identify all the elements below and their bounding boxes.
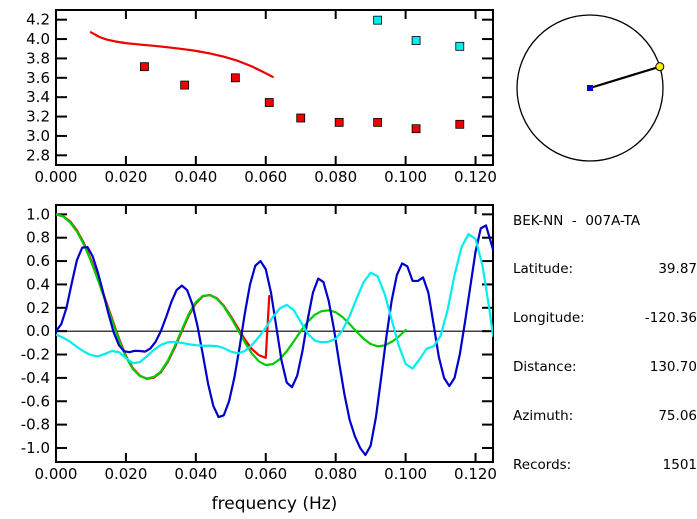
info-value-distance: 130.70 <box>650 359 697 375</box>
data-point-marker <box>374 118 382 126</box>
info-row-records: Records:1501 <box>513 457 697 473</box>
x-tick-label: 0.100 <box>384 465 427 483</box>
info-row-distance: Distance:130.70 <box>513 359 697 375</box>
y-tick-label: -0.4 <box>21 369 50 387</box>
x-tick-label: 0.120 <box>454 168 497 186</box>
y-tick-label: 3.6 <box>26 69 50 87</box>
x-tick-label: 0.120 <box>454 465 497 483</box>
x-tick-label: 0.020 <box>104 465 147 483</box>
data-point-marker <box>456 120 464 128</box>
info-value-longitude: -120.36 <box>645 310 697 326</box>
azimuth-diagram <box>505 5 695 175</box>
station-info-panel: BEK-NN - 007A-TA Latitude:39.87 Longitud… <box>513 180 697 490</box>
x-tick-label: 0.080 <box>314 168 357 186</box>
x-tick-label: 0.000 <box>35 168 78 186</box>
dispersion-curve-plot: 0.0000.0200.0400.0600.0800.1000.1202.83.… <box>0 0 500 195</box>
plot-frame <box>56 205 493 462</box>
y-tick-label: 4.2 <box>26 11 50 29</box>
x-tick-label: 0.040 <box>174 465 217 483</box>
data-layer <box>56 214 493 455</box>
dispersion-plot-svg: 0.0000.0200.0400.0600.0800.1000.1202.83.… <box>0 0 500 195</box>
y-tick-label: 3.8 <box>26 49 50 67</box>
y-tick-label: -0.6 <box>21 392 50 410</box>
y-tick-label: 0.2 <box>26 299 50 317</box>
azimuth-ray <box>590 67 660 88</box>
plot-frame <box>56 10 493 165</box>
y-tick-label: 3.0 <box>26 127 50 145</box>
info-row-latitude: Latitude:39.87 <box>513 261 697 277</box>
data-point-marker <box>412 37 420 45</box>
data-point-marker <box>335 118 343 126</box>
y-tick-label: 0.0 <box>26 322 50 340</box>
x-axis-title: frequency (Hz) <box>212 494 338 514</box>
data-layer <box>91 16 464 133</box>
info-label-records: Records: <box>513 457 571 473</box>
info-value-records: 1501 <box>663 457 697 473</box>
series-line <box>56 214 406 378</box>
y-tick-label: -1.0 <box>21 439 50 457</box>
remote-station-marker <box>656 63 664 71</box>
y-tick-label: -0.8 <box>21 416 50 434</box>
data-point-marker <box>231 74 239 82</box>
y-tick-label: 0.6 <box>26 252 50 270</box>
y-tick-label: 2.8 <box>26 146 50 164</box>
series-line <box>56 225 493 455</box>
data-point-marker <box>412 125 420 133</box>
info-row-azimuth: Azimuth:75.06 <box>513 408 697 424</box>
y-tick-label: -0.2 <box>21 346 50 364</box>
station-pair-title: BEK-NN - 007A-TA <box>513 213 697 229</box>
x-tick-label: 0.020 <box>104 168 147 186</box>
cross-correlation-spectra-plot: 0.0000.0200.0400.0600.0800.1000.120-1.0-… <box>0 195 500 519</box>
y-tick-label: 3.4 <box>26 88 50 106</box>
x-tick-label: 0.080 <box>314 465 357 483</box>
info-label-latitude: Latitude: <box>513 261 573 277</box>
series-line <box>91 32 273 77</box>
spectra-plot-svg: 0.0000.0200.0400.0600.0800.1000.120-1.0-… <box>0 195 500 519</box>
info-value-azimuth: 75.06 <box>658 408 697 424</box>
info-label-longitude: Longitude: <box>513 310 585 326</box>
info-value-latitude: 39.87 <box>658 261 697 277</box>
info-label-distance: Distance: <box>513 359 577 375</box>
x-tick-label: 0.100 <box>384 168 427 186</box>
info-label-azimuth: Azimuth: <box>513 408 573 424</box>
center-station-marker <box>587 85 593 91</box>
y-tick-label: 4.0 <box>26 30 50 48</box>
y-tick-label: 1.0 <box>26 205 50 223</box>
info-row-longitude: Longitude:-120.36 <box>513 310 697 326</box>
data-point-marker <box>265 99 273 107</box>
x-tick-label: 0.060 <box>244 465 287 483</box>
x-tick-label: 0.040 <box>174 168 217 186</box>
y-tick-label: 0.8 <box>26 229 50 247</box>
y-tick-label: 0.4 <box>26 275 50 293</box>
azimuth-diagram-svg <box>505 5 695 175</box>
y-tick-label: 3.2 <box>26 108 50 126</box>
data-point-marker <box>297 114 305 122</box>
data-point-marker <box>456 42 464 50</box>
data-point-marker <box>181 81 189 89</box>
data-point-marker <box>374 16 382 24</box>
x-tick-label: 0.060 <box>244 168 287 186</box>
data-point-marker <box>140 63 148 71</box>
x-tick-label: 0.000 <box>35 465 78 483</box>
